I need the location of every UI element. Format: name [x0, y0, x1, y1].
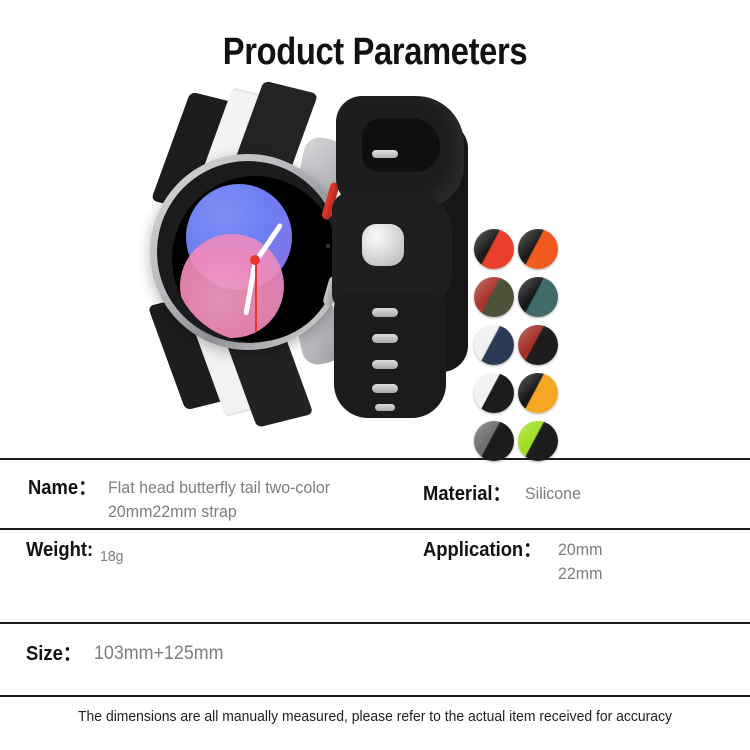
watch-second-hand [255, 260, 257, 332]
strap-hole [372, 308, 398, 317]
table-rule-bottom [0, 695, 750, 697]
spec-value-size: 103mm+125mm [94, 642, 224, 666]
strap-butterfly-clasp [328, 96, 478, 416]
spec-value-material: Silicone [525, 482, 581, 506]
spec-label-weight: Weight: [26, 538, 93, 562]
watch-bezel [157, 161, 339, 343]
strap-hole [372, 334, 398, 343]
product-image [150, 86, 470, 426]
color-swatch-grid [474, 229, 560, 459]
spec-row-material: Material： Silicone [423, 482, 584, 506]
table-rule-third [0, 622, 750, 624]
watch-case [150, 154, 346, 350]
page-title: Product Parameters [53, 30, 698, 74]
watch-screen [172, 176, 338, 342]
spec-label-size: Size： [26, 642, 81, 666]
product-hero [0, 86, 750, 436]
watch-center-pin [250, 255, 260, 265]
table-rule-second [0, 528, 750, 530]
spec-row-weight: Weight: 18g [26, 538, 125, 564]
spec-label-name: Name： [28, 476, 97, 500]
spec-row-size: Size： 103mm+125mm [26, 642, 232, 666]
color-swatch-black-teal[interactable] [518, 277, 558, 317]
strap-hole [372, 360, 398, 369]
clasp-release-button [362, 224, 404, 266]
color-swatch-black-red[interactable] [474, 229, 514, 269]
clasp-loop-opening [362, 118, 440, 172]
spec-value-name: Flat head butterfly tail two-color 20mm2… [108, 476, 330, 524]
strap-hole [375, 404, 395, 411]
strap-hole [372, 384, 398, 393]
spec-value-application: 20mm 22mm [558, 538, 602, 586]
footer-disclaimer: The dimensions are all manually measured… [26, 708, 724, 725]
spec-label-material: Material： [423, 482, 511, 506]
color-swatch-black-orange[interactable] [518, 229, 558, 269]
table-rule-top [0, 458, 750, 460]
color-swatch-lime-black[interactable] [518, 421, 558, 461]
clasp-slot [372, 150, 398, 158]
color-swatch-darkred-black[interactable] [518, 325, 558, 365]
color-swatch-white-black[interactable] [474, 373, 514, 413]
color-swatch-black-amber[interactable] [518, 373, 558, 413]
spec-row-application: Application： 20mm 22mm [423, 538, 605, 586]
color-swatch-darkred-olive[interactable] [474, 277, 514, 317]
spec-label-application: Application： [423, 538, 542, 562]
spec-row-name: Name： Flat head butterfly tail two-color… [28, 476, 345, 524]
color-swatch-white-navy[interactable] [474, 325, 514, 365]
color-swatch-gray-black[interactable] [474, 421, 514, 461]
watch-face-pink-circle [180, 234, 284, 338]
spec-value-weight: 18g [100, 545, 124, 569]
